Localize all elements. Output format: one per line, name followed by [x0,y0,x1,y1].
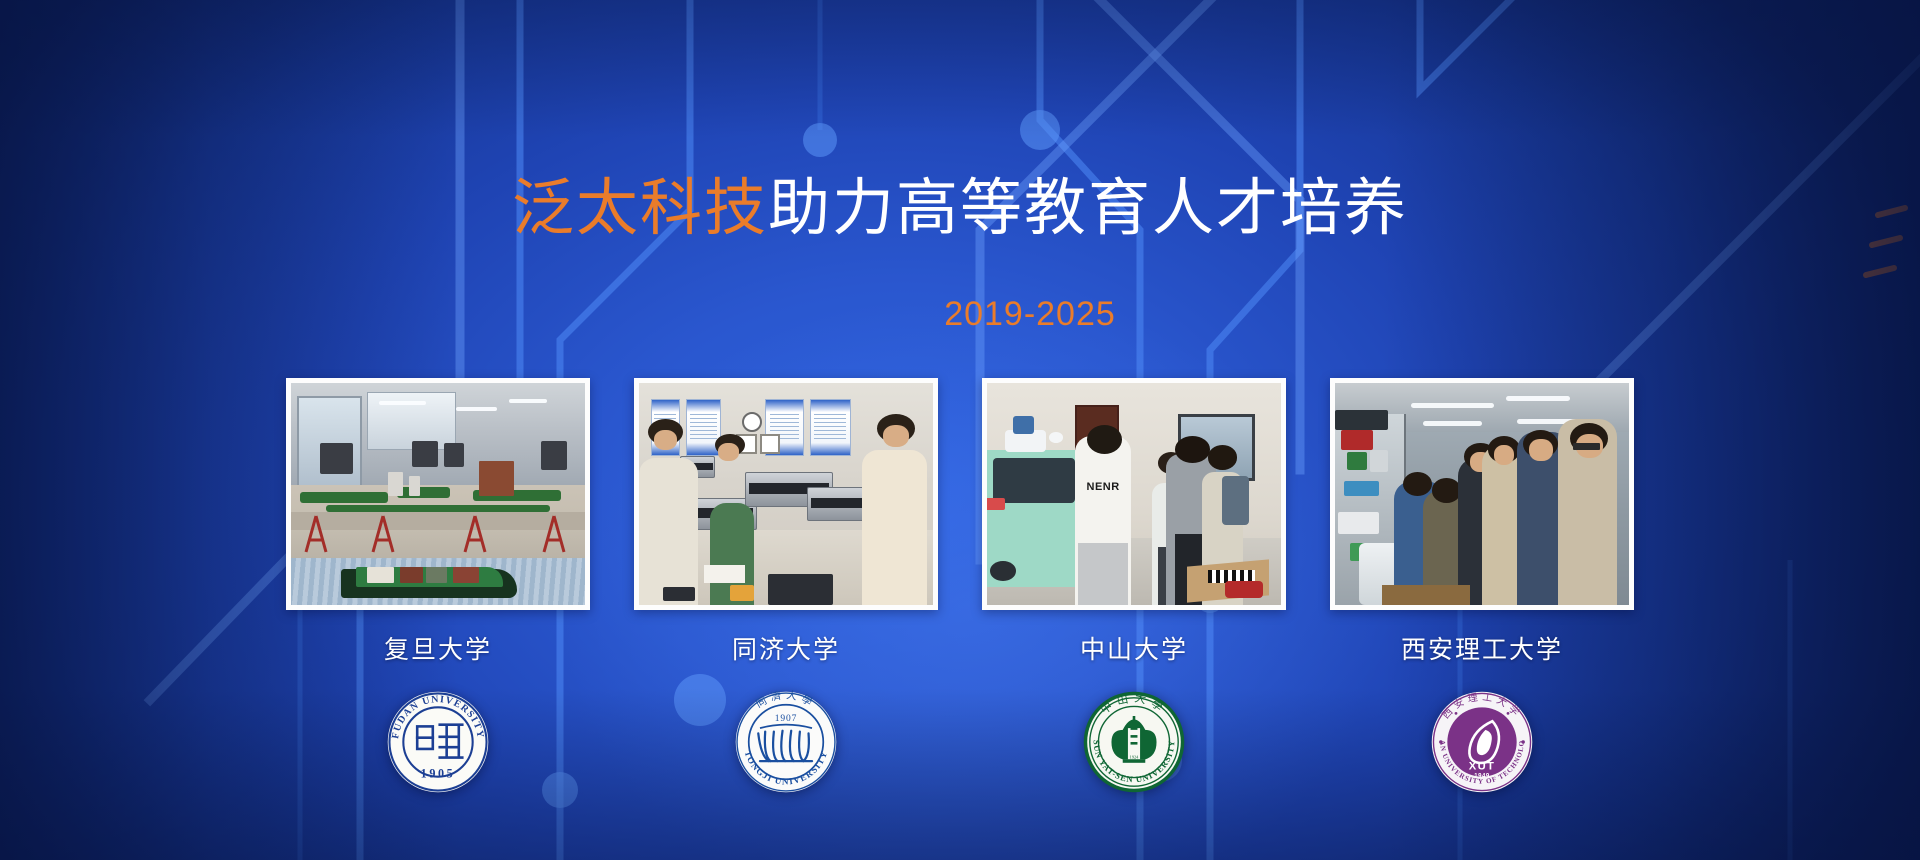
seal-wrap-tongji: 同濟大學 TONGJI UNIVERSITY 1907 [734,690,838,794]
photo-xut-students-equipment [1335,383,1629,605]
title-brand-text: 泛太科技 [512,174,768,243]
banner-subtitle: 2019-2025 [0,295,1920,334]
seal-sun-yat-sen-university: 中山大學 SUN YAT-SEN UNIVERSITY 1924 [1082,690,1186,794]
university-card-xian-tech[interactable]: 西安理工大学 西安理工大学 XI'AN UNIVERSITY OF TECHNO… [1330,378,1634,794]
seal-tongji-university: 同濟大學 TONGJI UNIVERSITY 1907 [734,690,838,794]
university-name-sun-yat-sen: 中山大学 [1080,630,1188,666]
seal-fudan-university: FUDAN UNIVERSITY 1905 [386,690,490,794]
banner-stage: 泛太科技助力高等教育人才培养 2019-2025 [0,0,1920,860]
photo-frame-sun-yat-sen: NENR [982,378,1286,610]
university-card-row: 复旦大学 FUDAN UNIVERSITY 1905 [0,378,1920,794]
svg-text:1949: 1949 [1474,774,1490,780]
university-card-tongji[interactable]: 同济大学 同濟大學 TONGJI UNIVERSITY [634,378,938,794]
svg-text:XUT: XUT [1469,761,1495,773]
seal-wrap-fudan: FUDAN UNIVERSITY 1905 [386,690,490,794]
svg-text:1907: 1907 [775,714,798,724]
photo-sysu-autonomous-car: NENR [987,383,1281,605]
svg-text:1924: 1924 [1130,754,1139,759]
seal-xian-university-of-technology: 西安理工大学 XI'AN UNIVERSITY OF TECHNOLOGY XU… [1430,690,1534,794]
svg-text:1905: 1905 [421,767,456,781]
title-rest-text: 助力高等教育人才培养 [768,174,1408,243]
photo-tongji-electronics-lab [639,383,933,605]
seal-wrap-sun-yat-sen: 中山大學 SUN YAT-SEN UNIVERSITY 1924 [1082,690,1186,794]
university-card-fudan[interactable]: 复旦大学 FUDAN UNIVERSITY 1905 [286,378,590,794]
year-range-text: 2019-2025 [944,295,1116,334]
photo-frame-tongji [634,378,938,610]
photo-frame-xian-tech [1330,378,1634,610]
photo-fudan-lab-model [291,383,585,605]
university-name-tongji: 同济大学 [732,630,840,666]
seal-wrap-xian-tech: 西安理工大学 XI'AN UNIVERSITY OF TECHNOLOGY XU… [1430,690,1534,794]
photo-frame-fudan [286,378,590,610]
banner-title: 泛太科技助力高等教育人才培养 [0,178,1920,240]
university-card-sun-yat-sen[interactable]: NENR 中山大学 [982,378,1286,794]
university-name-xian-tech: 西安理工大学 [1401,630,1563,666]
university-name-fudan: 复旦大学 [384,630,492,666]
